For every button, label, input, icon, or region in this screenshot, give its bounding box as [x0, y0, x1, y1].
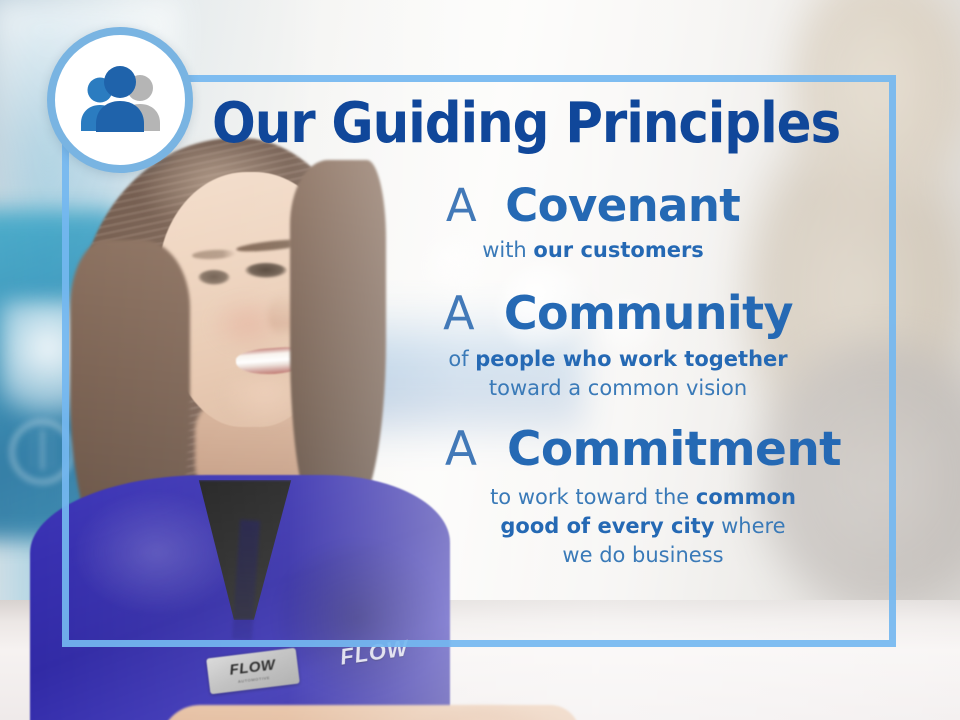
page-title: Our Guiding Principles [212, 96, 819, 152]
principle-keyword: Covenant [505, 179, 740, 232]
principle-description-line: we do business [386, 541, 900, 570]
eye [198, 270, 230, 285]
plain-text: where [714, 514, 785, 538]
emphasis-text: common [696, 485, 796, 509]
plain-text: of [448, 347, 475, 371]
people-group-badge [47, 27, 193, 173]
emphasis-text: good of every city [500, 514, 714, 538]
principle-description-line: toward a common vision [336, 374, 900, 403]
principles-list: A Covenant with our customers A Communit… [300, 182, 900, 578]
principle-description-line: to work toward the common [386, 483, 900, 512]
principle-description-line: good of every city where [386, 512, 900, 541]
principle-covenant: A Covenant with our customers [286, 182, 900, 265]
principle-commitment: A Commitment to work toward the common g… [386, 425, 900, 570]
guiding-principles-graphic: FLOW AUTOMOTIVE FLOW Our Guiding Princip [0, 0, 960, 720]
principle-community: A Community of people who work together … [336, 289, 900, 404]
principle-heading: A Community [336, 289, 900, 338]
principle-article: A [446, 179, 491, 232]
principle-description-line: with our customers [286, 236, 900, 265]
principle-heading: A Commitment [386, 425, 900, 475]
principle-description: with our customers [286, 236, 900, 265]
principle-article: A [443, 286, 489, 340]
emphasis-text: people who work together [475, 347, 787, 371]
principle-description-line: of people who work together [336, 345, 900, 374]
principle-keyword: Commitment [507, 422, 841, 477]
people-group-icon [74, 64, 166, 136]
plain-text: to work toward the [490, 485, 696, 509]
principle-heading: A Covenant [286, 182, 900, 230]
plain-text: toward a common vision [489, 376, 747, 400]
principle-description: to work toward the common good of every … [386, 483, 900, 570]
principle-description: of people who work together toward a com… [336, 345, 900, 403]
emphasis-text: our customers [533, 238, 703, 262]
clasped-hands [395, 700, 595, 720]
principle-keyword: Community [504, 286, 793, 340]
plain-text: with [482, 238, 533, 262]
eye [245, 263, 287, 278]
principle-article: A [445, 422, 492, 477]
plain-text: we do business [562, 543, 723, 567]
